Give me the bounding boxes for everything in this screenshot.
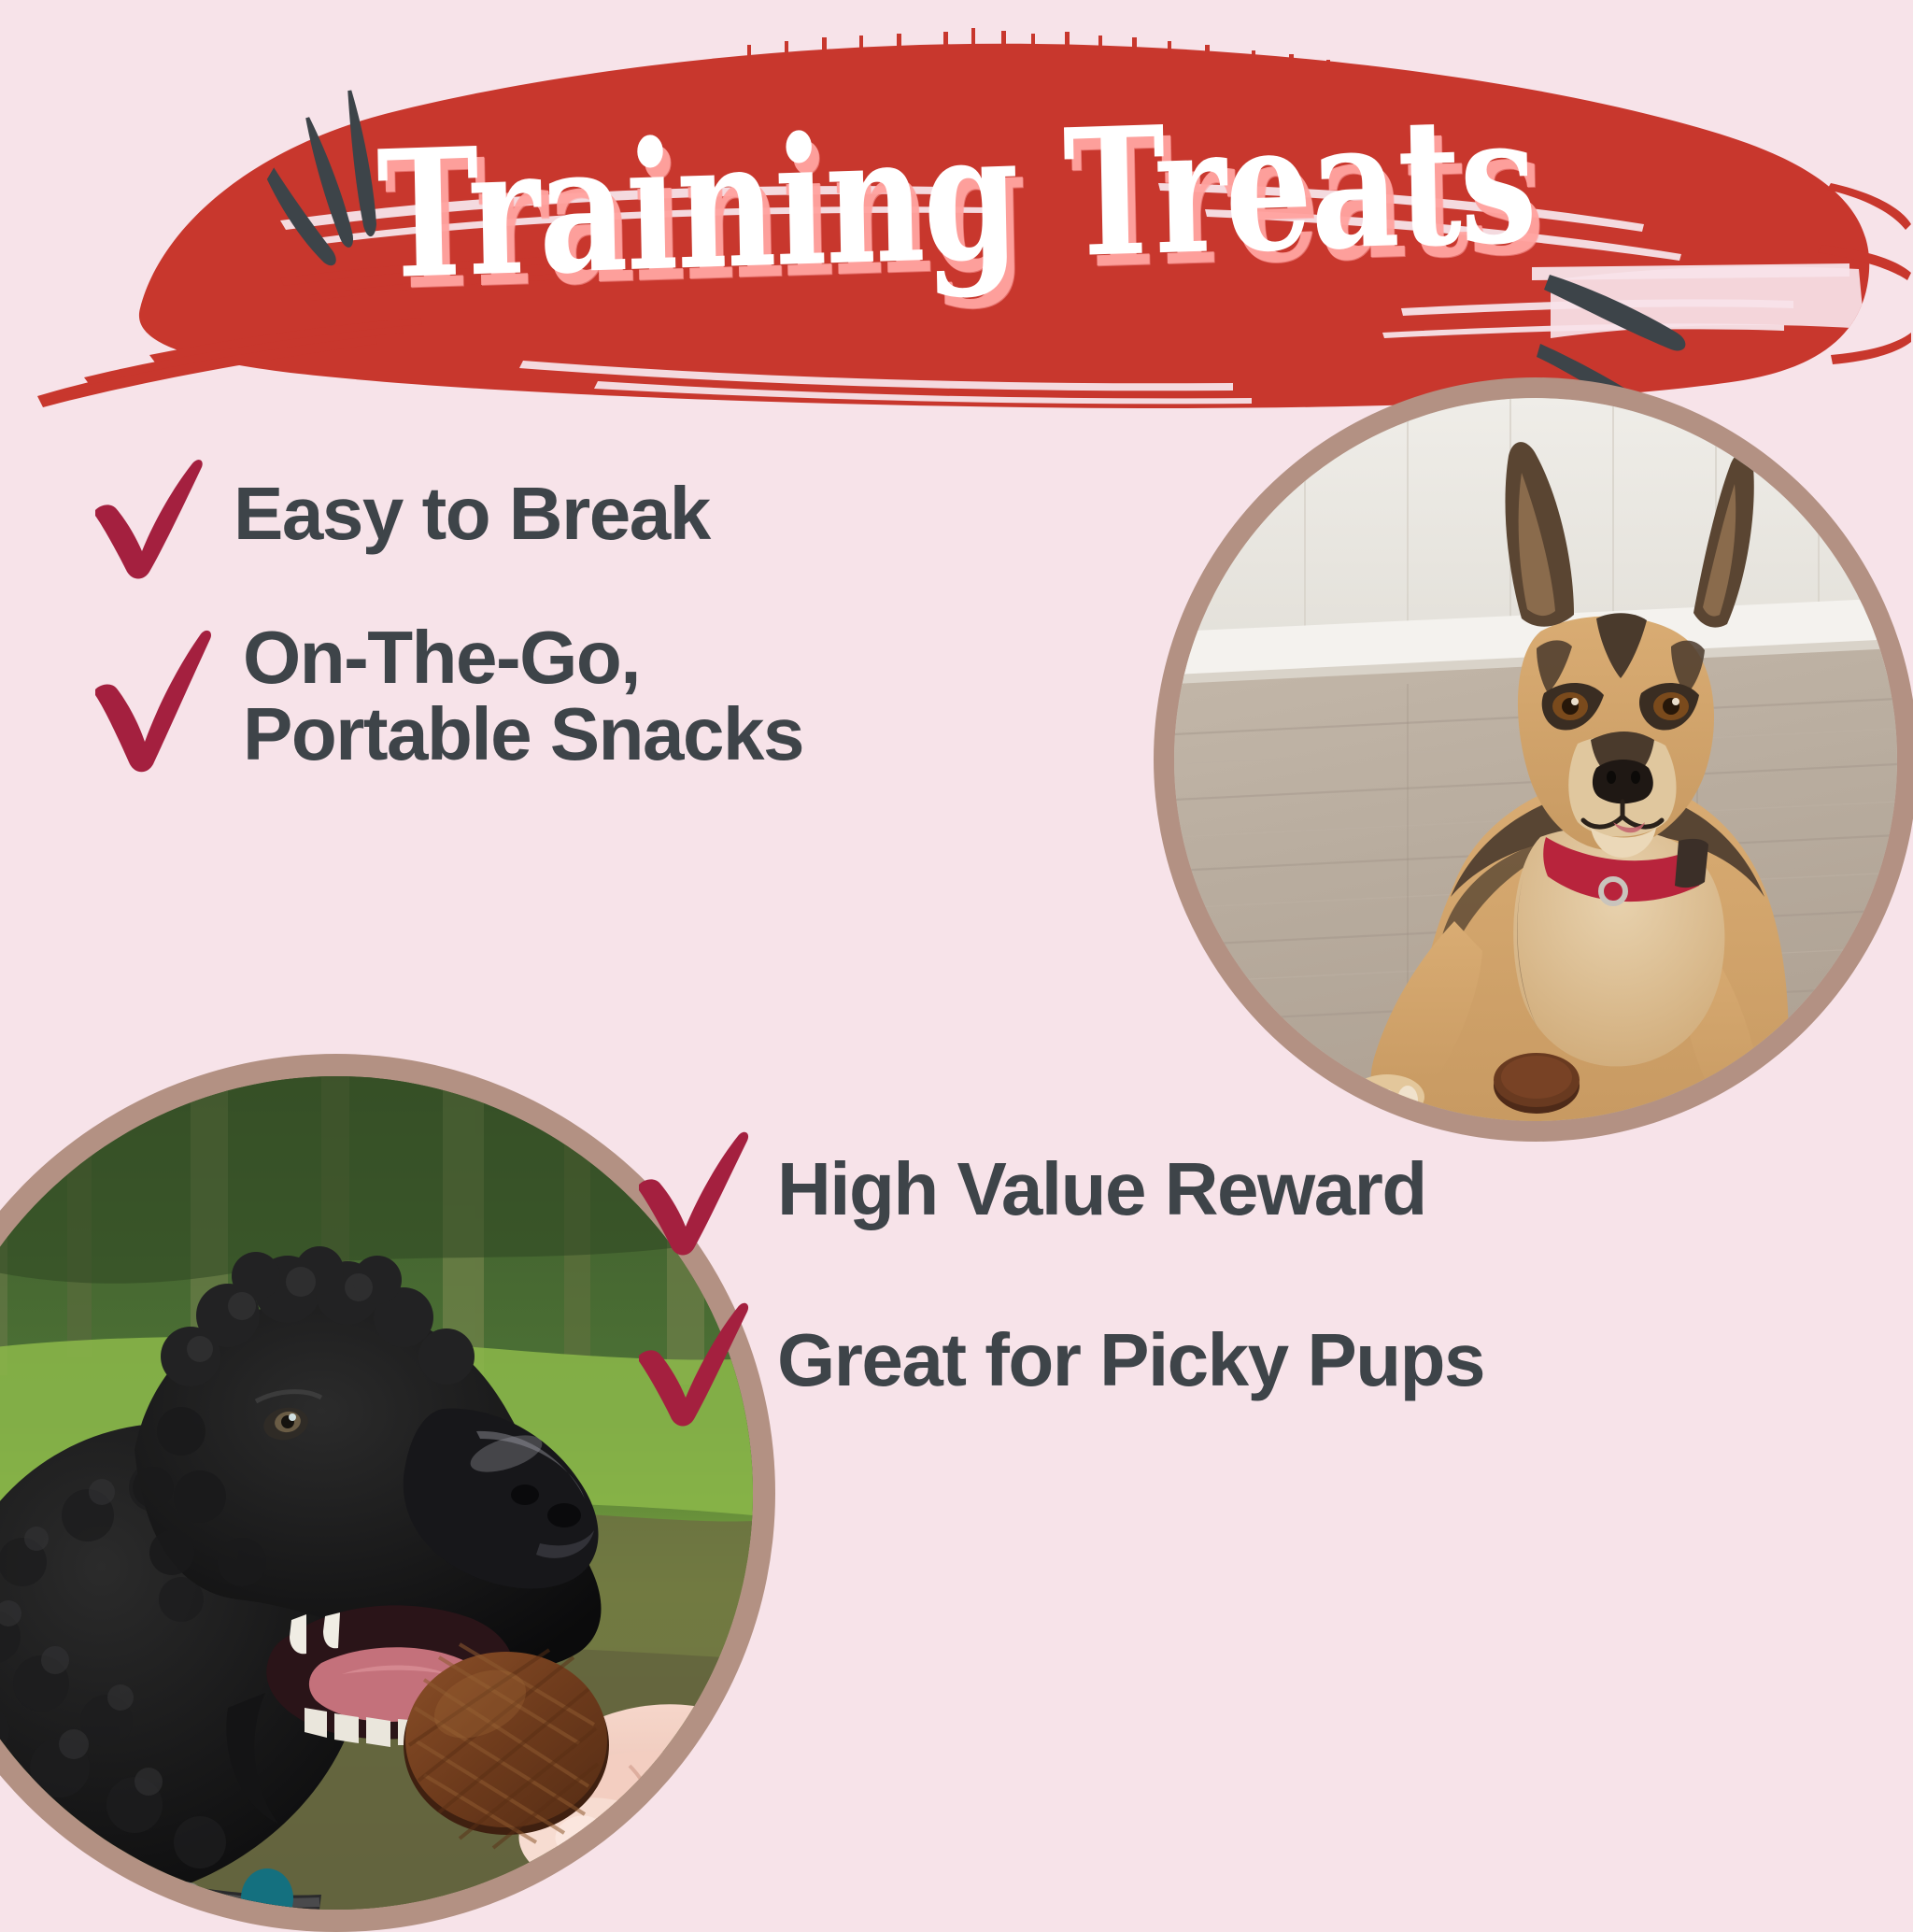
check-icon	[82, 448, 213, 579]
photo-german-shepherd-image	[1174, 398, 1897, 1121]
german-shepherd-illustration	[1174, 398, 1897, 1121]
photo-german-shepherd	[1154, 377, 1913, 1142]
feature-on-the-go-portable-snacks: On-The-Go, Portable Snacks	[82, 617, 803, 775]
feature-easy-to-break: Easy to Break	[82, 448, 710, 579]
feature-label: Easy to Break	[234, 476, 710, 552]
check-icon	[82, 617, 222, 775]
feature-label: On-The-Go, Portable Snacks	[243, 619, 803, 772]
feature-label: High Value Reward	[777, 1151, 1426, 1228]
feature-high-value-reward: High Value Reward	[626, 1121, 1426, 1257]
check-icon	[626, 1121, 757, 1257]
header-banner	[0, 0, 1913, 439]
feature-great-for-picky-pups: Great for Picky Pups	[626, 1292, 1484, 1428]
feature-label: Great for Picky Pups	[777, 1322, 1484, 1399]
accent-dashes-left	[262, 80, 430, 295]
check-icon	[626, 1292, 757, 1428]
training-treats-poster: Training Treats	[0, 0, 1913, 1913]
